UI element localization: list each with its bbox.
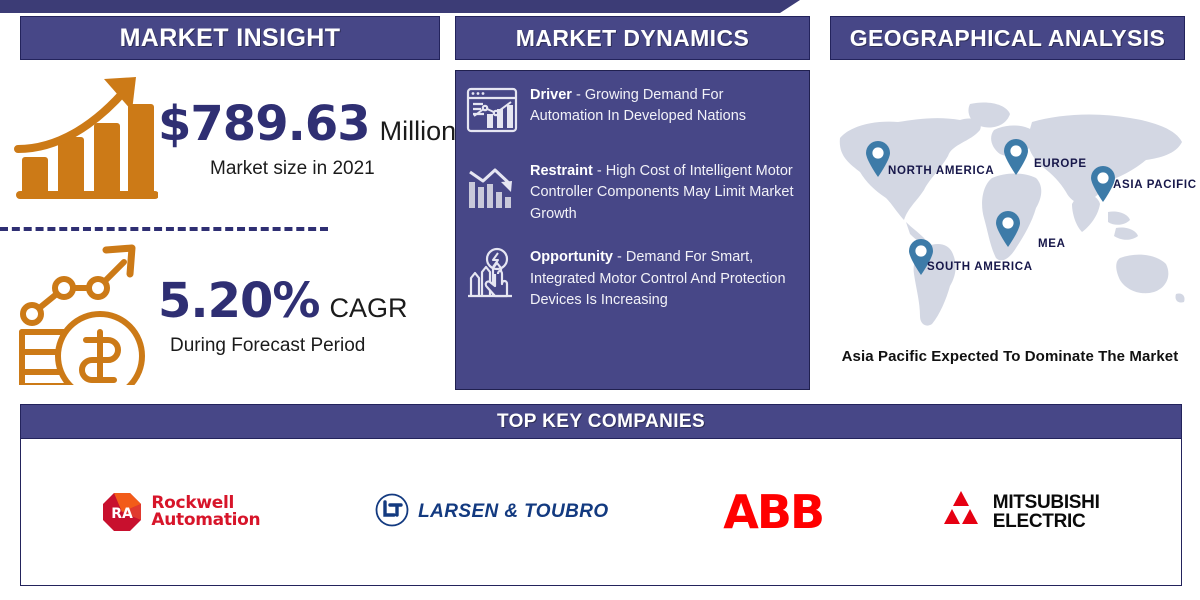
geo-label-south-america: SOUTH AMERICA <box>927 261 1033 273</box>
mitsubishi-line-1: MITSUBISHI <box>993 493 1100 512</box>
cagr-text: 5.20% CAGR During Forecast Period <box>158 273 408 357</box>
larsen-toubro-logo[interactable]: LARSEN & TOUBRO <box>375 493 608 532</box>
infographic-root: MARKET INSIGHT $789.63 Million Market si <box>0 0 1200 600</box>
dynamics-item-label: Restraint <box>530 163 593 179</box>
mitsubishi-wordmark: MITSUBISHI ELECTRIC <box>993 493 1100 531</box>
geo-label-north-america: NORTH AMERICA <box>888 165 994 177</box>
dashboard-analytics-icon <box>464 83 520 139</box>
market-size-block: $789.63 Million Market size in 2021 <box>8 68 438 208</box>
dynamics-item-driver: Driver - Growing Demand For Automation I… <box>464 83 799 139</box>
top-key-companies-panel: TOP KEY COMPANIES RA Rockwell Automation <box>20 404 1182 586</box>
map-pin-icon <box>995 211 1021 247</box>
dynamics-item-separator: - <box>572 87 585 103</box>
rockwell-automation-logo[interactable]: RA Rockwell Automation <box>102 492 260 532</box>
geo-label-europe: EUROPE <box>1034 158 1087 170</box>
rockwell-mark-icon: RA <box>102 492 142 532</box>
mitsubishi-electric-logo[interactable]: MITSUBISHI ELECTRIC <box>938 489 1100 536</box>
dynamics-item-label: Opportunity <box>530 249 613 265</box>
abb-logo[interactable]: ABB <box>723 489 823 535</box>
company-logo-row: RA Rockwell Automation LARSEN & T <box>21 439 1181 585</box>
cagr-value: 5.20% <box>158 273 320 329</box>
market-insight-header: MARKET INSIGHT <box>20 16 440 60</box>
market-size-text: $789.63 Million Market size in 2021 <box>158 96 456 180</box>
dynamics-item-restraint: Restraint - High Cost of Intelligent Mot… <box>464 159 799 225</box>
geographical-analysis-header: GEOGRAPHICAL ANALYSIS <box>830 16 1185 60</box>
declining-bar-chart-icon <box>464 159 520 215</box>
geo-caption: Asia Pacific Expected To Dominate The Ma… <box>820 348 1200 365</box>
section-divider <box>0 227 328 231</box>
lt-monogram-icon <box>375 493 409 532</box>
top-key-companies-header: TOP KEY COMPANIES <box>21 405 1181 439</box>
dynamics-item-opportunity: Opportunity - Demand For Smart, Integrat… <box>464 245 799 311</box>
dynamics-item-label: Driver <box>530 87 572 103</box>
market-dynamics-header: MARKET DYNAMICS <box>455 16 810 60</box>
dynamics-item-separator: - <box>613 249 626 265</box>
abb-wordmark: ABB <box>723 489 823 535</box>
geo-label-asia-pacific: ASIA PACIFIC <box>1113 179 1197 191</box>
bar-chart-growth-arrow-icon <box>8 71 158 206</box>
market-dynamics-panel: Driver - Growing Demand For Automation I… <box>455 70 810 390</box>
larsen-toubro-wordmark: LARSEN & TOUBRO <box>418 501 608 523</box>
cagr-unit: CAGR <box>330 293 408 324</box>
mitsubishi-line-2: ELECTRIC <box>993 512 1100 531</box>
dynamics-item-text: Opportunity - Demand For Smart, Integrat… <box>530 245 799 311</box>
cagr-caption: During Forecast Period <box>170 335 408 357</box>
rockwell-mark-text: RA <box>112 506 134 522</box>
dynamics-item-separator: - <box>593 163 606 179</box>
dynamics-item-text: Driver - Growing Demand For Automation I… <box>530 83 799 128</box>
market-size-unit: Million <box>380 116 457 147</box>
market-size-caption: Market size in 2021 <box>210 158 456 180</box>
geographical-analysis-panel: NORTH AMERICA EUROPE ASIA PACIFIC SOUTH … <box>820 86 1200 396</box>
hand-touch-growth-icon <box>464 245 520 301</box>
cagr-block: 5.20% CAGR During Forecast Period <box>8 240 438 390</box>
mitsubishi-three-diamonds-icon <box>938 489 984 536</box>
dynamics-item-text: Restraint - High Cost of Intelligent Mot… <box>530 159 799 225</box>
geo-label-mea: MEA <box>1038 238 1066 250</box>
coins-growth-dollar-icon <box>8 240 158 390</box>
market-size-value: $789.63 <box>158 96 370 152</box>
rockwell-wordmark: Rockwell Automation <box>151 495 260 530</box>
rockwell-line-2: Automation <box>151 512 260 529</box>
map-pin-icon <box>1003 139 1029 175</box>
top-banner-strip <box>0 0 800 13</box>
